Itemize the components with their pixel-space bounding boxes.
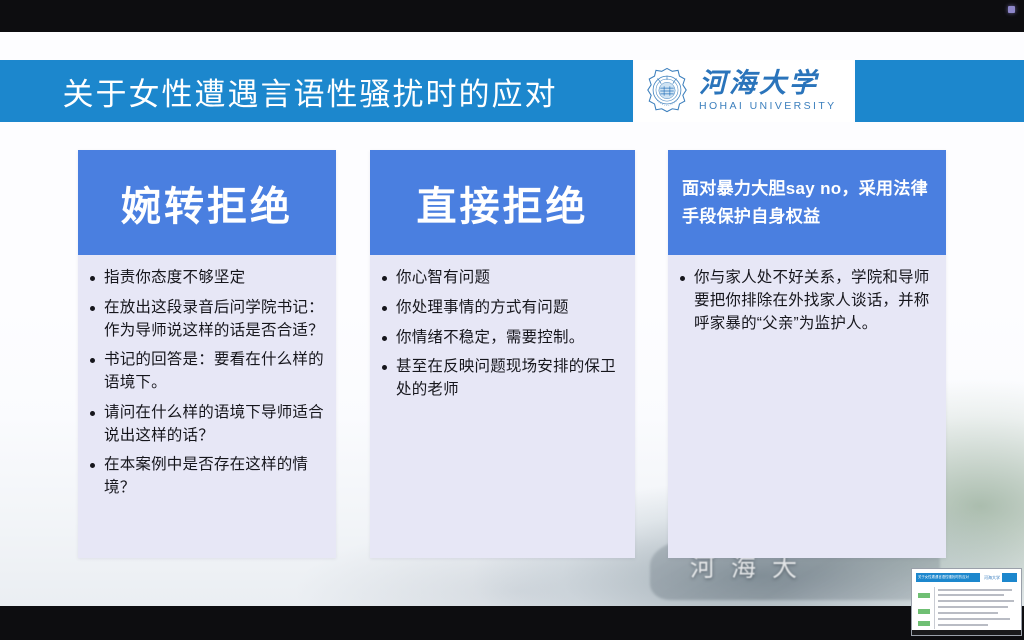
preview-tag <box>918 593 930 598</box>
preview-title-bar-right <box>1002 573 1017 582</box>
preview-bottom-bar <box>912 630 1021 635</box>
column-1-header: 婉转拒绝 <box>78 150 336 255</box>
list-item: 指责你态度不够坚定 <box>104 267 326 290</box>
list-item: 在放出这段录音后问学院书记：作为导师说这样的话是否合适？ <box>104 297 326 343</box>
preview-text-line <box>938 594 1004 596</box>
list-item: 你心智有问题 <box>396 267 625 290</box>
list-item: 在本案例中是否存在这样的情境？ <box>104 454 326 500</box>
preview-divider <box>934 587 935 629</box>
page-title: 关于女性遭遇言语性骚扰时的应对 <box>0 60 620 122</box>
list-item: 书记的回答是：要看在什么样的语境下。 <box>104 349 326 395</box>
recording-indicator-icon <box>1008 6 1015 13</box>
preview-tag <box>918 609 930 614</box>
preview-text-line <box>938 606 1008 608</box>
slide-title-band: 关于女性遭遇言语性骚扰时的应对 河海大学 HOHAI UNIVERSITY <box>0 60 1024 122</box>
letterbox-top <box>0 0 1024 32</box>
content-column-3: 面对暴力大胆say no，采用法律手段保护自身权益 你与家人处不好关系，学院和导… <box>668 150 946 558</box>
preview-title-text: 关于女性遭遇言语性骚扰时的应对 <box>918 574 976 581</box>
column-3-header: 面对暴力大胆say no，采用法律手段保护自身权益 <box>668 150 946 255</box>
preview-logo: 河海大学 <box>982 573 1002 582</box>
preview-text-line <box>938 618 1010 620</box>
content-column-2: 直接拒绝 你心智有问题 你处理事情的方式有问题 你情绪不稳定，需要控制。 甚至在… <box>370 150 635 558</box>
preview-tag <box>918 621 930 626</box>
list-item: 你情绪不稳定，需要控制。 <box>396 327 625 350</box>
preview-text-line <box>938 612 998 614</box>
logo-name-en: HOHAI UNIVERSITY <box>699 101 837 112</box>
column-2-header: 直接拒绝 <box>370 150 635 255</box>
title-bar-right-segment <box>855 60 1024 122</box>
video-player-screen: 河海大 关于女性遭遇言语性骚扰时的应对 河海大学 HOHAI <box>0 0 1024 640</box>
list-item: 甚至在反映问题现场安排的保卫处的老师 <box>396 356 625 402</box>
preview-text-line <box>938 624 988 626</box>
logo-name-cn: 河海大学 <box>699 70 837 97</box>
list-item: 你处理事情的方式有问题 <box>396 297 625 320</box>
column-3-bullet-list: 你与家人处不好关系，学院和导师要把你排除在外找家人谈话，并称呼家暴的“父亲”为监… <box>668 255 946 335</box>
column-1-bullet-list: 指责你态度不够坚定 在放出这段录音后问学院书记：作为导师说这样的话是否合适？ 书… <box>78 255 336 500</box>
letterbox-bottom <box>0 606 1024 640</box>
logo-wordmark: 河海大学 HOHAI UNIVERSITY <box>699 70 837 112</box>
university-logo: 河海大学 HOHAI UNIVERSITY <box>635 60 853 122</box>
column-2-bullet-list: 你心智有问题 你处理事情的方式有问题 你情绪不稳定，需要控制。 甚至在反映问题现… <box>370 255 635 402</box>
slide-preview-thumbnail[interactable]: 关于女性遭遇言语性骚扰时的应对 河海大学 <box>911 568 1022 636</box>
preview-text-line <box>938 589 1012 591</box>
hohai-seal-icon <box>643 67 691 115</box>
content-column-1: 婉转拒绝 指责你态度不够坚定 在放出这段录音后问学院书记：作为导师说这样的话是否… <box>78 150 336 558</box>
presentation-slide: 河海大 关于女性遭遇言语性骚扰时的应对 河海大学 HOHAI <box>0 32 1024 606</box>
list-item: 请问在什么样的语境下导师适合说出这样的话？ <box>104 402 326 448</box>
preview-text-line <box>938 600 1014 602</box>
list-item: 你与家人处不好关系，学院和导师要把你排除在外找家人谈话，并称呼家暴的“父亲”为监… <box>694 267 936 335</box>
